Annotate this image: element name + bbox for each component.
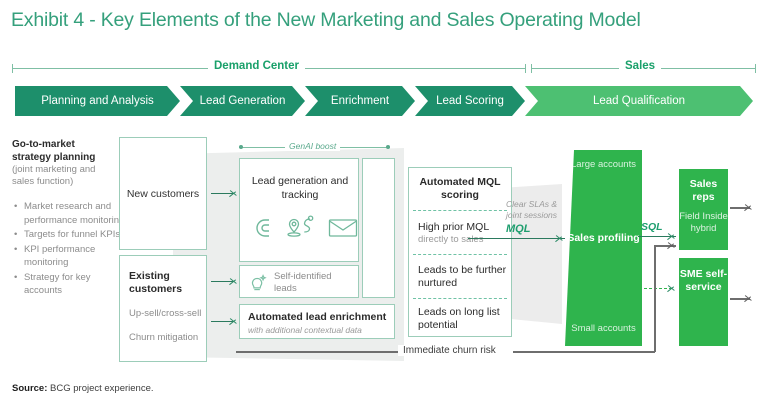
mql-row-nurtured[interactable]: Leads to be further nurtured — [409, 256, 511, 298]
location-pin-path-icon — [284, 215, 320, 246]
stage-lead-qualification[interactable]: Lead Qualification — [525, 86, 753, 116]
arrow-icon — [230, 189, 237, 198]
bracket-cap-right — [755, 64, 756, 73]
churn-line-left — [236, 351, 398, 353]
stage-lead-generation[interactable]: Lead Generation — [180, 86, 305, 116]
profiling-top-label: Large accounts — [565, 159, 642, 170]
existing-customers-label: Existing customers — [129, 270, 205, 296]
mql-row-main: Leads to be further nurtured — [418, 264, 511, 290]
stage-label: Lead Generation — [200, 95, 286, 107]
genai-boost-label: GenAI boost — [285, 141, 340, 151]
automated-lead-enrichment-title: Automated lead enrichment — [248, 311, 394, 323]
mql-row-main: Leads on long list potential — [418, 306, 511, 332]
page-title: Exhibit 4 - Key Elements of the New Mark… — [11, 9, 759, 32]
arrow-icon — [668, 232, 675, 241]
list-item: KPI performance monitoring — [24, 243, 126, 270]
gtm-strategy-subtitle: (joint marketing and sales function) — [12, 164, 112, 188]
person-sparkle-icon — [247, 272, 269, 299]
exhibit-canvas: Exhibit 4 - Key Elements of the New Mark… — [0, 0, 768, 409]
automated-lead-enrichment-subtitle: with additional contextual data — [248, 325, 394, 335]
mql-tag: MQL — [506, 223, 530, 235]
sales-profiling-shape[interactable]: Large accounts Sales profiling Small acc… — [565, 150, 642, 346]
bracket-sales: Sales — [531, 62, 756, 74]
stage-lead-scoring[interactable]: Lead Scoring — [415, 86, 525, 116]
list-item: Targets for funnel KPIs — [24, 228, 126, 242]
new-customers-box[interactable]: New customers — [119, 137, 207, 250]
gtm-strategy-title: Go-to-market strategy planning — [12, 138, 107, 164]
sme-self-service-box[interactable]: SME self-service — [679, 258, 728, 346]
magnet-icon — [252, 216, 276, 245]
bracket-dot-left — [239, 145, 243, 149]
mql-scoring-title: Automated MQL scoring — [409, 176, 511, 202]
arrow-icon — [668, 284, 675, 293]
source-text: BCG project experience. — [50, 383, 154, 394]
bracket-demand-center: Demand Center — [12, 62, 526, 74]
stage-label: Enrichment — [331, 95, 389, 107]
churn-line-right — [513, 351, 655, 353]
mql-row-long-list[interactable]: Leads on long list potential — [409, 300, 511, 338]
connector-line-mql — [468, 238, 565, 239]
genai-side-panel — [362, 158, 395, 298]
arrow-icon — [230, 277, 237, 286]
sales-reps-title: Sales reps — [679, 178, 728, 203]
arrow-icon — [745, 203, 752, 212]
new-customers-label: New customers — [120, 138, 206, 249]
source-note: Source: BCG project experience. — [12, 383, 154, 394]
automated-mql-scoring-box[interactable]: Automated MQL scoring High prior MQL dir… — [408, 167, 512, 337]
envelope-icon — [328, 217, 358, 244]
bracket-label-sales: Sales — [619, 60, 661, 72]
stage-enrichment[interactable]: Enrichment — [305, 86, 415, 116]
self-identified-leads-box[interactable]: Self-identified leads — [239, 265, 359, 298]
sales-reps-subtitle: Field Inside hybrid — [679, 211, 728, 235]
list-item: Market research and performance monitori… — [24, 200, 126, 227]
arrow-icon — [668, 241, 675, 250]
arrow-icon — [230, 317, 237, 326]
handoff-note: Clear SLAs & joint sessions — [506, 199, 562, 221]
bracket-dot-right — [386, 145, 390, 149]
arrow-icon — [745, 294, 752, 303]
sme-self-service-title: SME self-service — [679, 268, 728, 293]
stage-label: Planning and Analysis — [41, 95, 154, 107]
existing-customers-item-churn: Churn mitigation — [129, 332, 207, 343]
sql-tag: SQL — [641, 221, 663, 233]
profiling-bottom-label: Small accounts — [565, 323, 642, 334]
stage-planning-and-analysis[interactable]: Planning and Analysis — [15, 86, 180, 116]
churn-risk-label: Immediate churn risk — [398, 345, 501, 356]
existing-customers-box[interactable]: Existing customers Up-sell/cross-sell Ch… — [119, 255, 207, 362]
bracket-genai-boost: GenAI boost — [239, 141, 390, 153]
bracket-cap-right — [525, 64, 526, 73]
gtm-bullet-list: Market research and performance monitori… — [12, 200, 126, 299]
bracket-label-demand-center: Demand Center — [208, 60, 305, 72]
divider — [413, 298, 507, 299]
mql-row-sub: directly to sales — [418, 234, 511, 246]
mql-row-high-prior[interactable]: High prior MQL directly to sales — [409, 212, 511, 254]
self-identified-leads-label: Self-identified leads — [274, 271, 356, 294]
stage-label: Lead Qualification — [593, 95, 685, 107]
arrow-icon — [556, 234, 563, 243]
sales-reps-box[interactable]: Sales reps Field Inside hybrid — [679, 169, 728, 250]
churn-line-vertical — [654, 245, 656, 352]
lead-generation-tracking-title: Lead generation and tracking — [246, 175, 354, 202]
mql-row-main: High prior MQL — [418, 221, 511, 234]
existing-customers-item-upsell: Up-sell/cross-sell — [129, 308, 207, 319]
list-item: Strategy for key accounts — [24, 271, 126, 298]
automated-lead-enrichment-box[interactable]: Automated lead enrichment with additiona… — [239, 304, 395, 339]
stage-label: Lead Scoring — [436, 95, 504, 107]
divider — [413, 210, 507, 211]
lead-generation-tracking-box[interactable]: Lead generation and tracking — [239, 158, 359, 262]
divider — [413, 254, 507, 255]
source-prefix: Source: — [12, 383, 47, 394]
profiling-center-label: Sales profiling — [565, 232, 642, 245]
